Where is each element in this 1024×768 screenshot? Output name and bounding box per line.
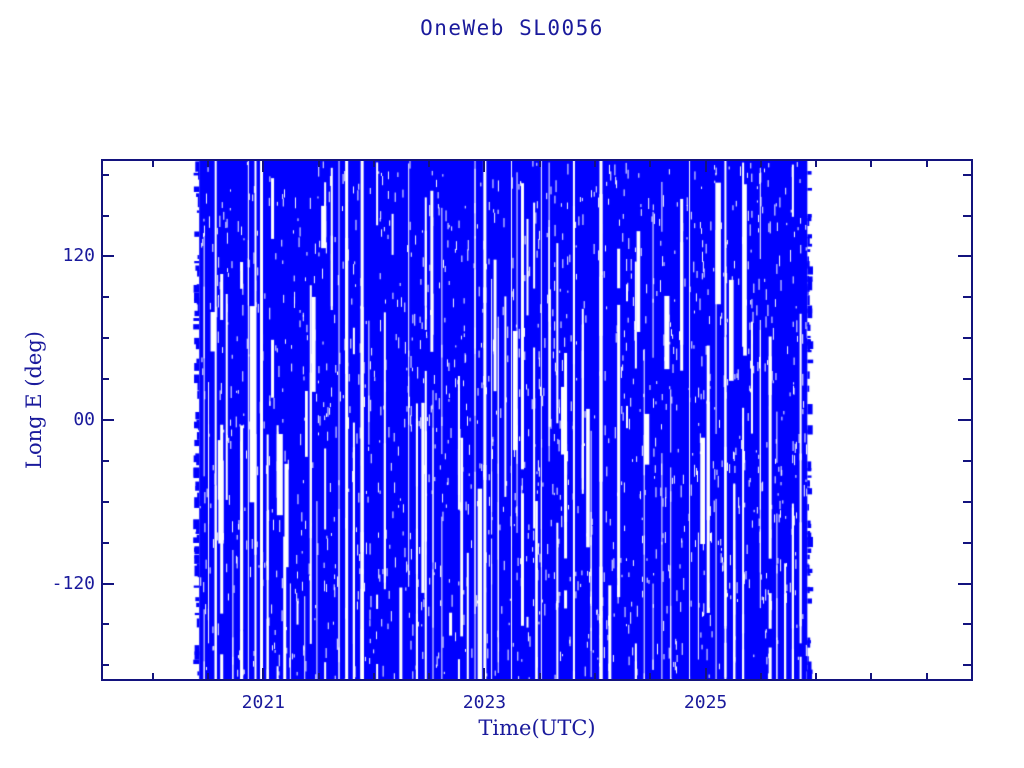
plot-frame (101, 159, 973, 681)
chart-page: OneWeb SL0056 12000-120 202120232025 Lon… (0, 0, 1024, 768)
x-tick-top-2027 (926, 159, 928, 167)
y-tick-right-0 (958, 419, 971, 421)
x-tick-label-2025: 2025 (656, 692, 756, 713)
x-tick-top-2021 (262, 159, 264, 172)
y-tick-label-0: 00 (73, 409, 95, 430)
x-tick-2027 (926, 673, 928, 681)
x-tick-2024 (594, 673, 596, 681)
x-tick-label-2021: 2021 (213, 692, 313, 713)
x-tick-top-2020.5 (207, 159, 209, 167)
y-tick-right--30 (963, 460, 971, 462)
y-tick--30 (101, 460, 109, 462)
chart-title: OneWeb SL0056 (0, 16, 1024, 40)
y-tick-right-150 (963, 215, 971, 217)
y-tick-right--120 (958, 583, 971, 585)
x-tick-top-2022 (373, 159, 375, 167)
y-tick-right-180 (963, 174, 971, 176)
x-tick-top-2020 (152, 159, 154, 167)
y-tick--180 (101, 664, 109, 666)
x-tick-top-2024.5 (649, 159, 651, 167)
x-tick-top-2026.5 (870, 159, 872, 167)
x-tick-2022.5 (428, 673, 430, 681)
x-axis-title: Time(UTC) (101, 716, 973, 740)
x-tick-2020.5 (207, 673, 209, 681)
y-tick-120 (101, 255, 114, 257)
x-tick-top-2023.5 (539, 159, 541, 167)
x-tick-top-2024 (594, 159, 596, 167)
y-tick-0 (101, 419, 114, 421)
y-tick-right--90 (963, 542, 971, 544)
y-tick--150 (101, 623, 109, 625)
longitude-vs-time-scatter (103, 161, 971, 679)
y-tick-30 (101, 378, 109, 380)
y-tick-right--60 (963, 501, 971, 503)
y-tick-right--150 (963, 623, 971, 625)
y-tick-right-30 (963, 378, 971, 380)
x-tick-2020 (152, 673, 154, 681)
y-tick--90 (101, 542, 109, 544)
x-tick-2024.5 (649, 673, 651, 681)
x-tick-2023.5 (539, 673, 541, 681)
y-tick-90 (101, 296, 109, 298)
y-axis-tick-labels: 12000-120 (0, 0, 95, 768)
y-tick-label-120: 120 (62, 245, 95, 266)
x-tick-2025.5 (760, 673, 762, 681)
x-tick-2026 (815, 673, 817, 681)
x-tick-label-2023: 2023 (434, 692, 534, 713)
x-tick-top-2025.5 (760, 159, 762, 167)
y-axis-title: Long E (deg) (22, 280, 46, 520)
x-tick-2023 (483, 668, 485, 681)
y-tick--60 (101, 501, 109, 503)
y-tick-label--120: -120 (52, 573, 95, 594)
x-tick-top-2021.5 (318, 159, 320, 167)
x-tick-top-2023 (483, 159, 485, 172)
y-tick-180 (101, 174, 109, 176)
y-tick-right--180 (963, 664, 971, 666)
y-tick-60 (101, 337, 109, 339)
x-tick-top-2025 (705, 159, 707, 172)
y-tick-right-120 (958, 255, 971, 257)
y-tick--120 (101, 583, 114, 585)
x-tick-2021.5 (318, 673, 320, 681)
x-tick-top-2026 (815, 159, 817, 167)
y-tick-right-90 (963, 296, 971, 298)
x-tick-2026.5 (870, 673, 872, 681)
x-tick-2021 (262, 668, 264, 681)
x-tick-2022 (373, 673, 375, 681)
y-tick-150 (101, 215, 109, 217)
x-tick-2025 (705, 668, 707, 681)
x-tick-top-2022.5 (428, 159, 430, 167)
y-tick-right-60 (963, 337, 971, 339)
